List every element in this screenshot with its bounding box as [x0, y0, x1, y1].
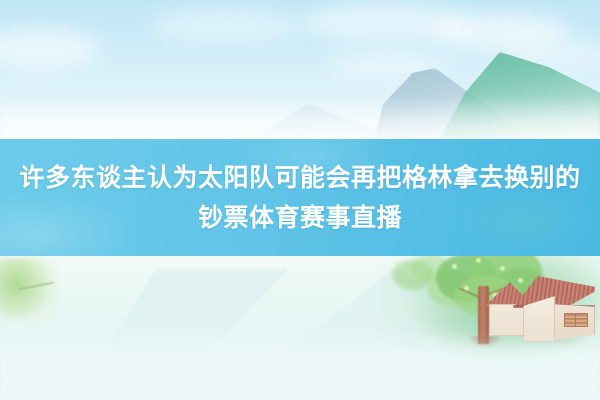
- foliage-tuft-left: [0, 258, 58, 320]
- house-window: [564, 313, 588, 327]
- cloud-shape: [150, 8, 300, 42]
- leaf-highlight: [476, 258, 481, 263]
- cloud-shape: [0, 28, 100, 70]
- promo-banner-image: 许多东谈主认为太阳队可能会再把格林拿去换别的钞票体育赛事直播: [0, 0, 600, 400]
- leaf-highlight: [500, 266, 505, 271]
- house-illustration: [483, 276, 595, 350]
- leaf-highlight: [452, 264, 457, 269]
- house-window-mullion: [575, 313, 576, 327]
- banner-headline-text: 许多东谈主认为太阳队可能会再把格林拿去换别的钞票体育赛事直播: [8, 158, 592, 238]
- headline-banner-band: 许多东谈主认为太阳队可能会再把格林拿去换别的钞票体育赛事直播: [0, 139, 600, 256]
